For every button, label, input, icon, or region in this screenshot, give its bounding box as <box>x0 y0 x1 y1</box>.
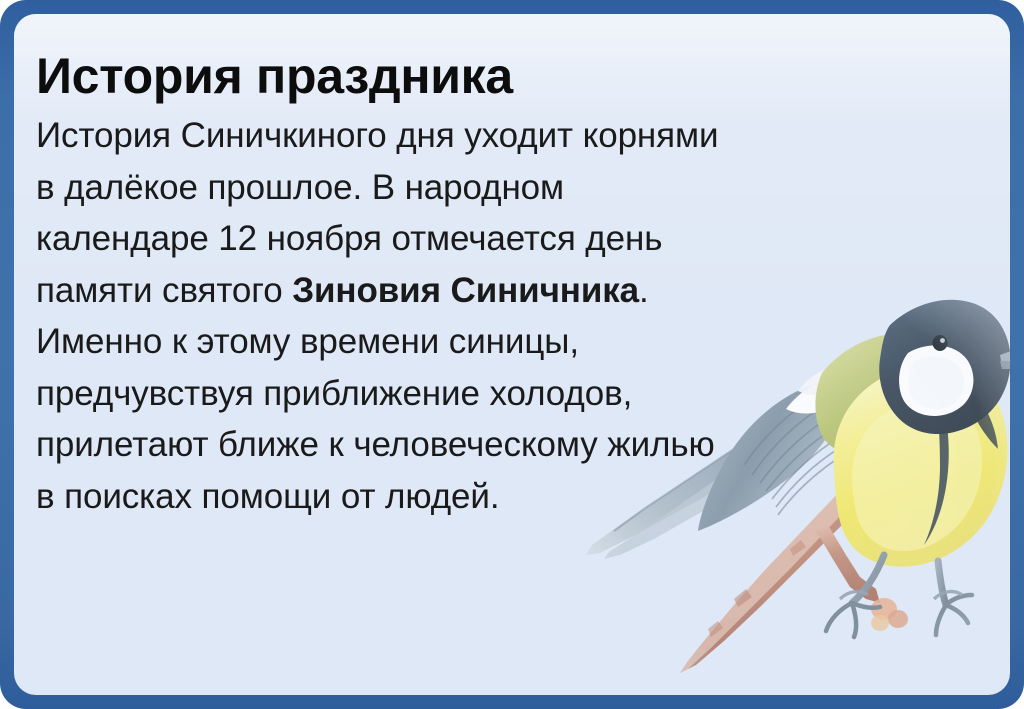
content-panel: История праздника История Синичкиного дн… <box>14 14 1010 695</box>
text-content: История праздника История Синичкиного дн… <box>36 46 736 522</box>
toes <box>826 595 972 637</box>
page-title: История праздника <box>36 46 736 106</box>
head <box>879 300 1010 449</box>
back-mantle <box>815 334 946 454</box>
saint-name-emphasis: Зиновия Синичника <box>292 271 639 310</box>
legs-and-feet <box>852 555 946 605</box>
breast <box>834 365 1008 567</box>
body-paragraph: История Синичкиного дня уходит корнями в… <box>36 110 736 522</box>
slide-frame: История праздника История Синичкиного дн… <box>0 0 1024 709</box>
